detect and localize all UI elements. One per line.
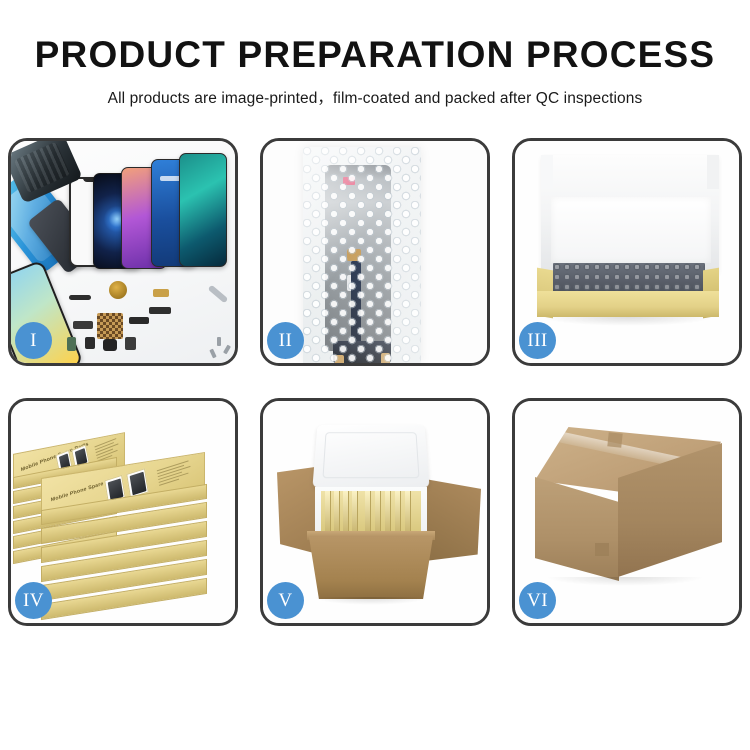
step-badge-5: V — [267, 582, 304, 619]
step-badge-1: I — [15, 322, 52, 359]
process-step-3: III — [512, 138, 742, 366]
drop-shadow — [545, 577, 705, 586]
page-header: PRODUCT PREPARATION PROCESS All products… — [0, 0, 750, 108]
part-gold-flex — [153, 289, 169, 297]
step-badge-4: IV — [15, 582, 52, 619]
part-button — [125, 337, 136, 350]
process-step-6: VI — [512, 398, 742, 626]
foam-lid — [312, 425, 429, 488]
part-tweezers — [208, 285, 229, 304]
part-taptic-engine — [103, 339, 117, 351]
teal-swirl-phone — [179, 153, 227, 267]
part-adhesive-mesh — [97, 313, 123, 339]
step-badge-3: III — [519, 322, 556, 359]
part-sim-tray — [67, 337, 76, 351]
part-flex-cable — [149, 307, 171, 314]
drop-shadow — [541, 317, 715, 326]
yellow-box-front — [537, 291, 719, 317]
drop-shadow — [313, 597, 429, 605]
plastic-sheen — [303, 147, 421, 363]
step-badge-2: II — [267, 322, 304, 359]
screw-icon — [209, 349, 216, 359]
carton-seam-top — [607, 432, 622, 447]
part-vibrator — [85, 337, 95, 349]
carton-flap-right — [425, 479, 481, 561]
process-step-4: Mobile Phone Spare Parts — [8, 398, 238, 626]
box-flap-left — [541, 155, 553, 189]
box-spec-lines — [157, 460, 193, 488]
process-step-grid: I II — [8, 138, 742, 686]
page-subtitle: All products are image-printed，film-coat… — [0, 75, 750, 108]
step-badge-6: VI — [519, 582, 556, 619]
part-antenna — [129, 317, 149, 324]
carton-left-face — [535, 477, 619, 581]
carton-front-face — [309, 537, 433, 599]
product-preparation-process-page: PRODUCT PREPARATION PROCESS All products… — [0, 0, 750, 750]
screw-icon — [223, 345, 231, 355]
yellow-boxes-inside — [321, 491, 421, 533]
page-title: PRODUCT PREPARATION PROCESS — [0, 0, 750, 75]
part-speaker — [69, 295, 91, 300]
process-step-5: V — [260, 398, 490, 626]
process-step-2: II — [260, 138, 490, 366]
screw-icon — [217, 337, 221, 346]
white-foam-sheet — [551, 197, 711, 263]
part-bracket — [73, 321, 93, 329]
box-flap-right — [707, 155, 719, 189]
carton-seam-bottom — [595, 543, 609, 556]
process-step-1: I — [8, 138, 238, 366]
part-camera-lens — [109, 281, 127, 299]
bubble-bag — [303, 147, 421, 363]
